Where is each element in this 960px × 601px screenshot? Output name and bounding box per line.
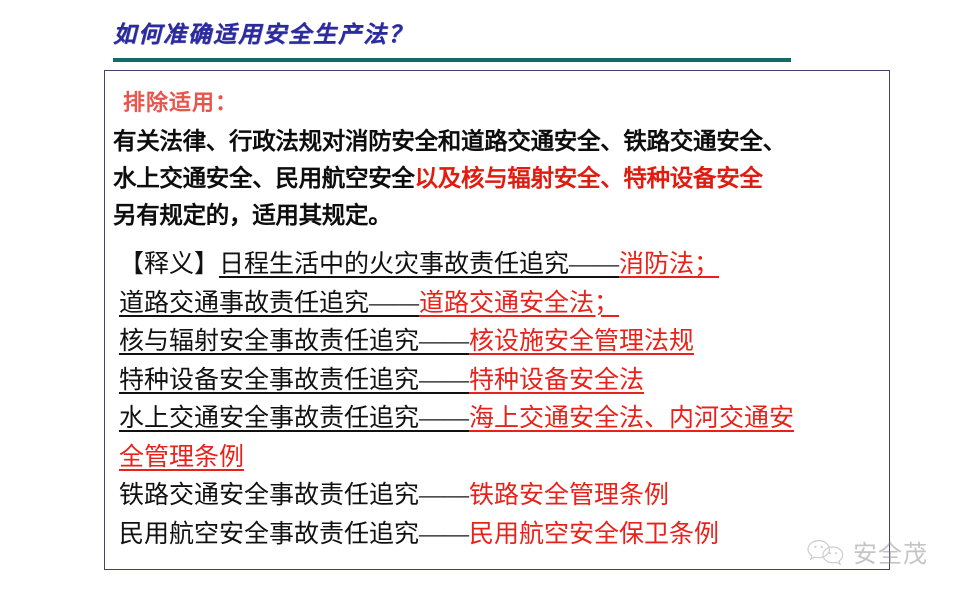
explanation-red: 核设施安全管理法规 [469,328,694,355]
explanation-red: 民用航空安全保卫条例 [469,521,719,548]
statement-line-1: 有关法律、行政法规对消防安全和道路交通安全、铁路交通安全、 [113,123,885,160]
explanation-red: 特种设备安全法 [469,367,644,394]
statement-paragraph: 有关法律、行政法规对消防安全和道路交通安全、铁路交通安全、 水上交通安全、民用航… [113,123,885,234]
explanation-red: 海上交通安全法、内河交通安 [469,405,794,432]
explanation-red: 铁路安全管理条例 [469,482,669,509]
explanation-line: 民用航空安全事故责任追究——民用航空安全保卫条例 [119,516,887,555]
explanation-line: 全管理条例 [119,439,887,478]
watermark: 安全茂 [806,534,928,569]
statement-line-2-black: 水上交通安全、民用航空安全 [113,164,415,192]
title-underline-rule [113,58,791,62]
statement-line-1-text: 有关法律、行政法规对消防安全和道路交通安全、铁路交通安全、 [113,127,786,155]
explanation-black: 铁路交通安全事故责任追究—— [119,482,469,509]
slide-canvas: 如何准确适用安全生产法？ 排除适用： 有关法律、行政法规对消防安全和道路交通安全… [0,0,960,601]
slide-title-block: 如何准确适用安全生产法？ [113,22,903,62]
explanation-line: 【释义】日程生活中的火灾事故责任追究——消防法； [119,246,887,285]
explanation-red: 道路交通安全法； [419,290,619,317]
explanation-line: 铁路交通安全事故责任追究——铁路安全管理条例 [119,477,887,516]
content-box: 排除适用： 有关法律、行政法规对消防安全和道路交通安全、铁路交通安全、 水上交通… [104,70,890,570]
explanation-black: 民用航空安全事故责任追究—— [119,521,469,548]
explanation-line: 水上交通安全事故责任追究——海上交通安全法、内河交通安 [119,400,887,439]
explanation-line: 特种设备安全事故责任追究——特种设备安全法 [119,362,887,401]
watermark-text: 安全茂 [853,534,928,569]
explanation-red: 消防法； [619,251,719,278]
explanation-black: 道路交通事故责任追究—— [119,290,419,317]
wechat-bubbles-icon [806,537,846,567]
exclude-heading: 排除适用： [123,85,238,117]
explanation-prefix: 【释义】 [119,251,219,278]
explanation-block: 【释义】日程生活中的火灾事故责任追究——消防法； 道路交通事故责任追究——道路交… [119,246,887,554]
explanation-black: 日程生活中的火灾事故责任追究—— [219,251,619,278]
explanation-line: 道路交通事故责任追究——道路交通安全法； [119,285,887,324]
explanation-black: 水上交通安全事故责任追究—— [119,405,469,432]
statement-line-3: 另有规定的，适用其规定。 [113,197,885,234]
page-title: 如何准确适用安全生产法？ [113,22,903,48]
statement-line-2-red: 以及核与辐射安全、特种设备安全 [415,164,763,192]
explanation-black: 特种设备安全事故责任追究—— [119,367,469,394]
statement-line-2: 水上交通安全、民用航空安全以及核与辐射安全、特种设备安全 [113,160,885,197]
explanation-line: 核与辐射安全事故责任追究——核设施安全管理法规 [119,323,887,362]
explanation-red: 全管理条例 [119,444,244,471]
statement-line-3-text: 另有规定的，适用其规定。 [113,201,391,229]
explanation-black: 核与辐射安全事故责任追究—— [119,328,469,355]
